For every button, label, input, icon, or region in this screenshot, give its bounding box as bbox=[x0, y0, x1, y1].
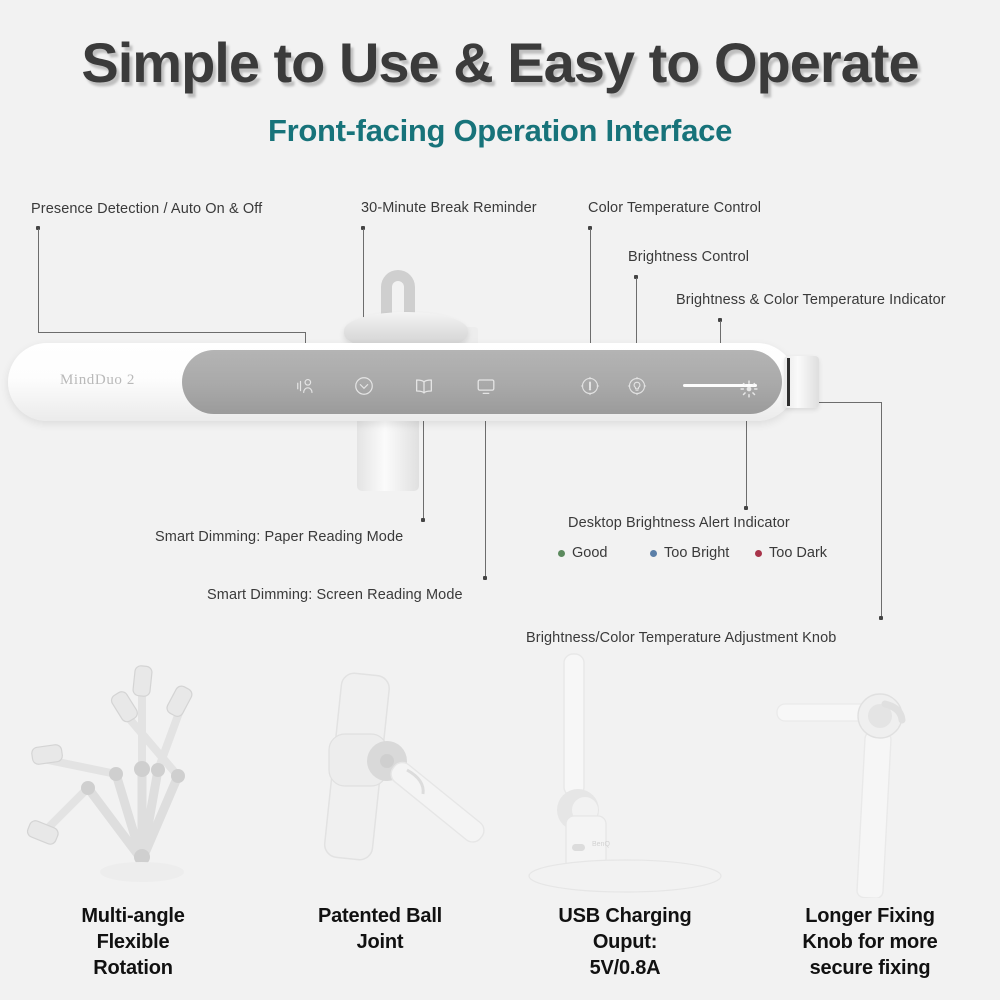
feature-caption-fixing-knob: Longer Fixing Knob for more secure fixin… bbox=[745, 903, 995, 981]
feature-caption-ball-joint: Patented Ball Joint bbox=[255, 903, 505, 955]
color-temperature-icon[interactable] bbox=[579, 375, 601, 397]
caption-line-1: USB Charging bbox=[500, 903, 750, 929]
photo-ball-joint bbox=[255, 648, 505, 898]
photo-usb-charging: BenQ bbox=[500, 648, 750, 898]
feature-card-ball-joint: Patented Ball Joint bbox=[255, 648, 505, 1000]
photo-multi-angle-rotation bbox=[8, 648, 258, 898]
callout-label-paper-reading-mode: Smart Dimming: Paper Reading Mode bbox=[155, 529, 403, 545]
callout-label-presence-detection: Presence Detection / Auto On & Off bbox=[31, 201, 262, 217]
legend-dot-too-bright bbox=[650, 550, 657, 557]
feature-caption-usb-charging: USB Charging Ouput: 5V/0.8A bbox=[500, 903, 750, 981]
desktop-alert-legend: Good Too Bright Too Dark bbox=[558, 545, 827, 561]
leader-dot-adjustment-knob bbox=[879, 616, 883, 620]
caption-line-1: Multi-angle bbox=[8, 903, 258, 929]
callout-label-break-reminder: 30-Minute Break Reminder bbox=[361, 200, 537, 216]
infographic-canvas: Simple to Use & Easy to Operate Front-fa… bbox=[0, 0, 1000, 1000]
legend-item-good: Good bbox=[558, 545, 650, 561]
brightness-bulb-icon[interactable] bbox=[626, 375, 648, 397]
svg-text:BenQ: BenQ bbox=[592, 841, 610, 848]
book-icon[interactable] bbox=[413, 375, 435, 397]
legend-label-too-dark: Too Dark bbox=[769, 545, 827, 561]
feature-card-usb-charging: BenQ USB Charging Ouput: 5V/0.8A bbox=[500, 648, 750, 1000]
leader-dot-paper-reading-mode bbox=[421, 518, 425, 522]
legend-item-too-bright: Too Bright bbox=[650, 545, 755, 561]
photo-fixing-knob bbox=[745, 648, 995, 898]
callout-label-adjustment-knob: Brightness/Color Temperature Adjustment … bbox=[526, 630, 836, 646]
caption-line-3: 5V/0.8A bbox=[500, 955, 750, 981]
caption-line-2: Ouput: bbox=[500, 929, 750, 955]
legend-dot-good bbox=[558, 550, 565, 557]
callout-label-color-temperature-control: Color Temperature Control bbox=[588, 200, 761, 216]
callout-label-desktop-alert-indicator: Desktop Brightness Alert Indicator bbox=[568, 515, 790, 531]
caption-line-1: Longer Fixing bbox=[745, 903, 995, 929]
page-title: Simple to Use & Easy to Operate bbox=[0, 30, 1000, 95]
lamp-illustration: MindDuo 2 bbox=[0, 255, 1000, 515]
page-subtitle: Front-facing Operation Interface bbox=[0, 113, 1000, 149]
legend-label-too-bright: Too Bright bbox=[664, 545, 729, 561]
timer-icon[interactable] bbox=[353, 375, 375, 397]
lamp-stand-post bbox=[357, 421, 419, 491]
caption-line-2: Joint bbox=[255, 929, 505, 955]
feature-card-fixing-knob: Longer Fixing Knob for more secure fixin… bbox=[745, 648, 995, 1000]
caption-line-2: Flexible bbox=[8, 929, 258, 955]
feature-card-row: Multi-angle Flexible Rotation Patented B… bbox=[0, 648, 1000, 1000]
presence-sensor-icon[interactable] bbox=[295, 375, 317, 397]
leader-dot-screen-reading-mode bbox=[483, 576, 487, 580]
caption-line-1: Patented Ball bbox=[255, 903, 505, 929]
legend-dot-too-dark bbox=[755, 550, 762, 557]
adjustment-knob-stripe bbox=[787, 358, 790, 406]
legend-label-good: Good bbox=[572, 545, 607, 561]
feature-caption-multi-angle-rotation: Multi-angle Flexible Rotation bbox=[8, 903, 258, 981]
monitor-icon[interactable] bbox=[475, 375, 497, 397]
feature-card-multi-angle-rotation: Multi-angle Flexible Rotation bbox=[8, 648, 258, 1000]
caption-line-2: Knob for more bbox=[745, 929, 995, 955]
brand-logo: MindDuo 2 bbox=[60, 372, 135, 389]
caption-line-3: Rotation bbox=[8, 955, 258, 981]
callout-label-screen-reading-mode: Smart Dimming: Screen Reading Mode bbox=[207, 587, 463, 603]
caption-line-3: secure fixing bbox=[745, 955, 995, 981]
legend-item-too-dark: Too Dark bbox=[755, 545, 827, 561]
desktop-alert-icon[interactable] bbox=[738, 378, 754, 394]
